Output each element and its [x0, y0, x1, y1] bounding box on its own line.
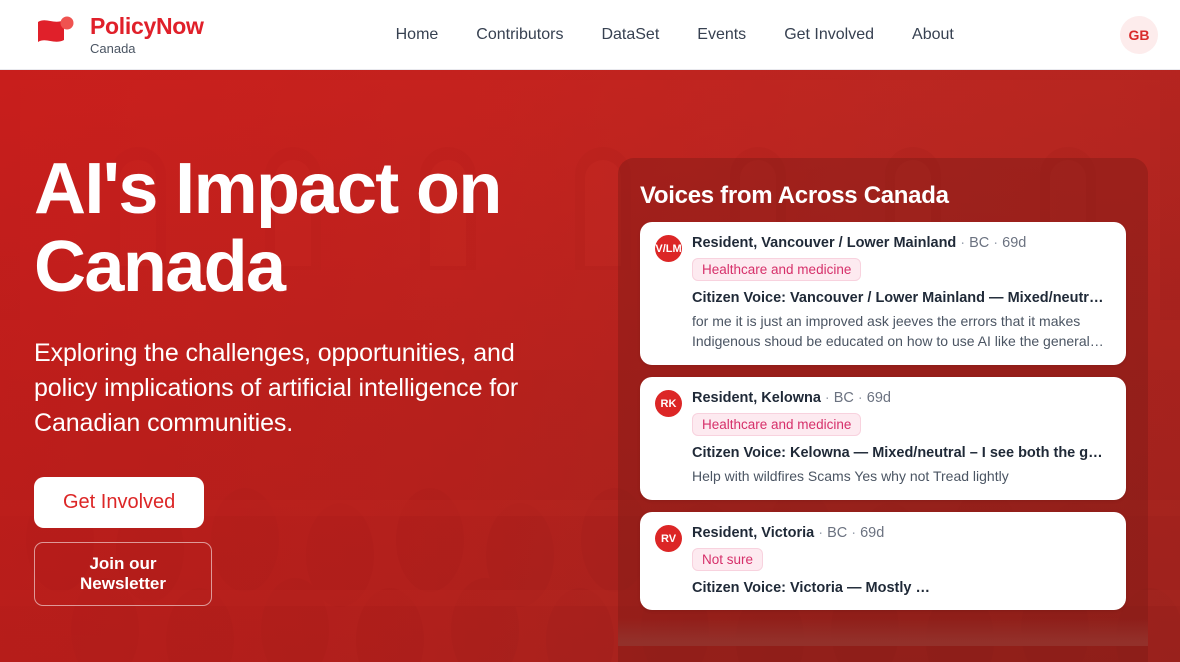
voice-region: BC [834, 390, 854, 406]
status-badge: Not sure [692, 548, 763, 571]
avatar: RV [655, 525, 682, 552]
site-header: PolicyNow Canada Home Contributors DataS… [0, 0, 1180, 70]
voices-panel: Voices from Across Canada V/LM Resident,… [618, 158, 1148, 662]
voice-region: BC [969, 235, 989, 251]
voice-age: 69d [1002, 235, 1026, 251]
voice-excerpt: Help with wildfires Scams Yes why not Tr… [692, 466, 1111, 486]
voice-region: BC [827, 525, 847, 541]
voice-headline: Citizen Voice: Kelowna — Mixed/neutral –… [692, 445, 1111, 461]
list-item[interactable]: RV Resident, Victoria·BC·69d Not sure Ci… [640, 512, 1126, 610]
list-item[interactable]: V/LM Resident, Vancouver / Lower Mainlan… [640, 222, 1126, 365]
nav-item-contributors[interactable]: Contributors [476, 26, 563, 44]
voice-headline: Citizen Voice: Vancouver / Lower Mainlan… [692, 290, 1111, 306]
voices-panel-title: Voices from Across Canada [618, 158, 1148, 210]
voices-footer: 1,011 Canadians have shared their though… [618, 646, 1148, 662]
voice-meta: Resident, Vancouver / Lower Mainland·BC·… [692, 235, 1111, 251]
avatar: RK [655, 390, 682, 417]
brand-subtitle: Canada [90, 42, 204, 55]
hero-subtitle: Exploring the challenges, opportunities,… [34, 336, 554, 441]
nav-item-get-involved[interactable]: Get Involved [784, 26, 874, 44]
voice-meta: Resident, Kelowna·BC·69d [692, 390, 1111, 406]
voice-headline: Citizen Voice: Victoria — Mostly … [692, 580, 1111, 596]
main-navigation: Home Contributors DataSet Events Get Inv… [396, 26, 954, 44]
get-involved-button[interactable]: Get Involved [34, 477, 204, 528]
hero-cta-group: Get Involved Join our Newsletter [34, 477, 594, 606]
voice-age: 69d [867, 390, 891, 406]
voices-list[interactable]: V/LM Resident, Vancouver / Lower Mainlan… [618, 222, 1148, 646]
voice-author: Resident, Kelowna [692, 390, 821, 406]
avatar: V/LM [655, 235, 682, 262]
hero-section: AI's Impact on Canada Exploring the chal… [0, 70, 1180, 662]
join-newsletter-button[interactable]: Join our Newsletter [34, 542, 212, 606]
page-title: AI's Impact on Canada [34, 150, 594, 306]
nav-item-about[interactable]: About [912, 26, 954, 44]
voice-age: 69d [860, 525, 884, 541]
user-avatar[interactable]: GB [1120, 16, 1158, 54]
nav-item-home[interactable]: Home [396, 26, 439, 44]
status-badge: Healthcare and medicine [692, 258, 861, 281]
nav-item-dataset[interactable]: DataSet [601, 26, 659, 44]
brand-logo[interactable]: PolicyNow Canada [34, 15, 204, 55]
flag-bookmark-icon [34, 16, 80, 54]
voice-author: Resident, Vancouver / Lower Mainland [692, 235, 956, 251]
nav-item-events[interactable]: Events [697, 26, 746, 44]
voice-meta: Resident, Victoria·BC·69d [692, 525, 1111, 541]
hero-content: AI's Impact on Canada Exploring the chal… [34, 150, 594, 606]
status-badge: Healthcare and medicine [692, 413, 861, 436]
voice-author: Resident, Victoria [692, 525, 814, 541]
voice-excerpt: for me it is just an improved ask jeeves… [692, 311, 1111, 351]
list-item[interactable]: RK Resident, Kelowna·BC·69d Healthcare a… [640, 377, 1126, 500]
brand-name: PolicyNow [90, 15, 204, 38]
